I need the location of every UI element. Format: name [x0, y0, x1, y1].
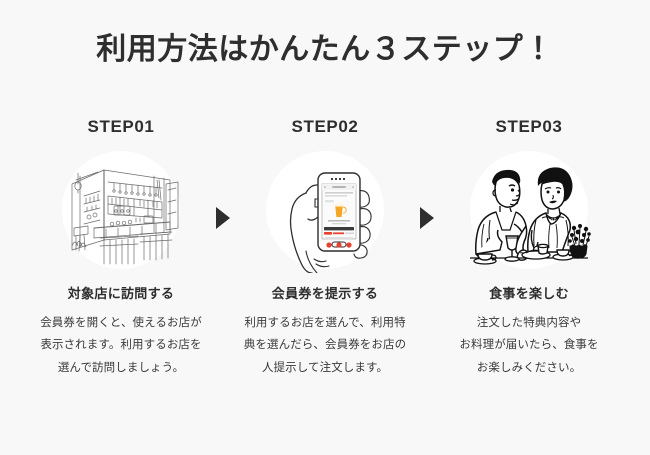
step-heading-1: 対象店に訪問する	[68, 287, 174, 300]
arrow-step1-to-step2	[212, 143, 234, 293]
step-heading-2: 会員券を提示する	[272, 287, 378, 300]
couple-dining-retro-illustration-icon	[466, 154, 592, 266]
woman-figure	[528, 167, 573, 255]
step-item-3: STEP03	[438, 118, 620, 379]
step-body-2: 利用するお店を選んで、利用特 典を選んだら、会員券をお店の 人提示して注文します…	[239, 312, 411, 379]
step-illustration-1	[30, 135, 212, 285]
step-body-line: 会員券を開くと、使えるお店が	[35, 312, 207, 334]
flower-bouquet	[568, 224, 591, 258]
step-guide-page: 利用方法はかんたん３ステップ！ STEP01	[0, 0, 650, 455]
step-body-3: 注文した特典内容や お料理が届いたら、食事を お楽しみください。	[443, 312, 615, 379]
step-body-line: お料理が届いたら、食事を	[443, 334, 615, 356]
hand-holding-smartphone-sketch-icon	[262, 147, 388, 273]
step-label-3: STEP03	[496, 118, 563, 135]
triangle-right-icon	[419, 207, 435, 229]
step-item-2: STEP02	[234, 118, 416, 379]
step-body-line: お楽しみください。	[443, 357, 615, 379]
step-label-2: STEP02	[292, 118, 359, 135]
step-body-line: 注文した特典内容や	[443, 312, 615, 334]
steps-row: STEP01	[0, 118, 650, 379]
step-heading-3: 食事を楽しむ	[489, 287, 569, 300]
step-body-line: 選んで訪問しましょう。	[35, 357, 207, 379]
step-body-line: 人提示して注文します。	[239, 357, 411, 379]
step-illustration-2	[234, 135, 416, 285]
triangle-right-icon	[215, 207, 231, 229]
step-body-line: 表示されます。利用するお店を	[35, 334, 207, 356]
step-body-1: 会員券を開くと、使えるお店が 表示されます。利用するお店を 選んで訪問しましょう…	[35, 312, 207, 379]
step-item-1: STEP01	[30, 118, 212, 379]
step-body-line: 利用するお店を選んで、利用特	[239, 312, 411, 334]
page-title: 利用方法はかんたん３ステップ！	[0, 32, 650, 68]
step-illustration-3	[438, 135, 620, 285]
step-body-line: 典を選んだら、会員券をお店の	[239, 334, 411, 356]
step-label-1: STEP01	[88, 118, 155, 135]
arrow-step2-to-step3	[416, 143, 438, 293]
storefront-interior-sketch-icon	[58, 154, 184, 266]
